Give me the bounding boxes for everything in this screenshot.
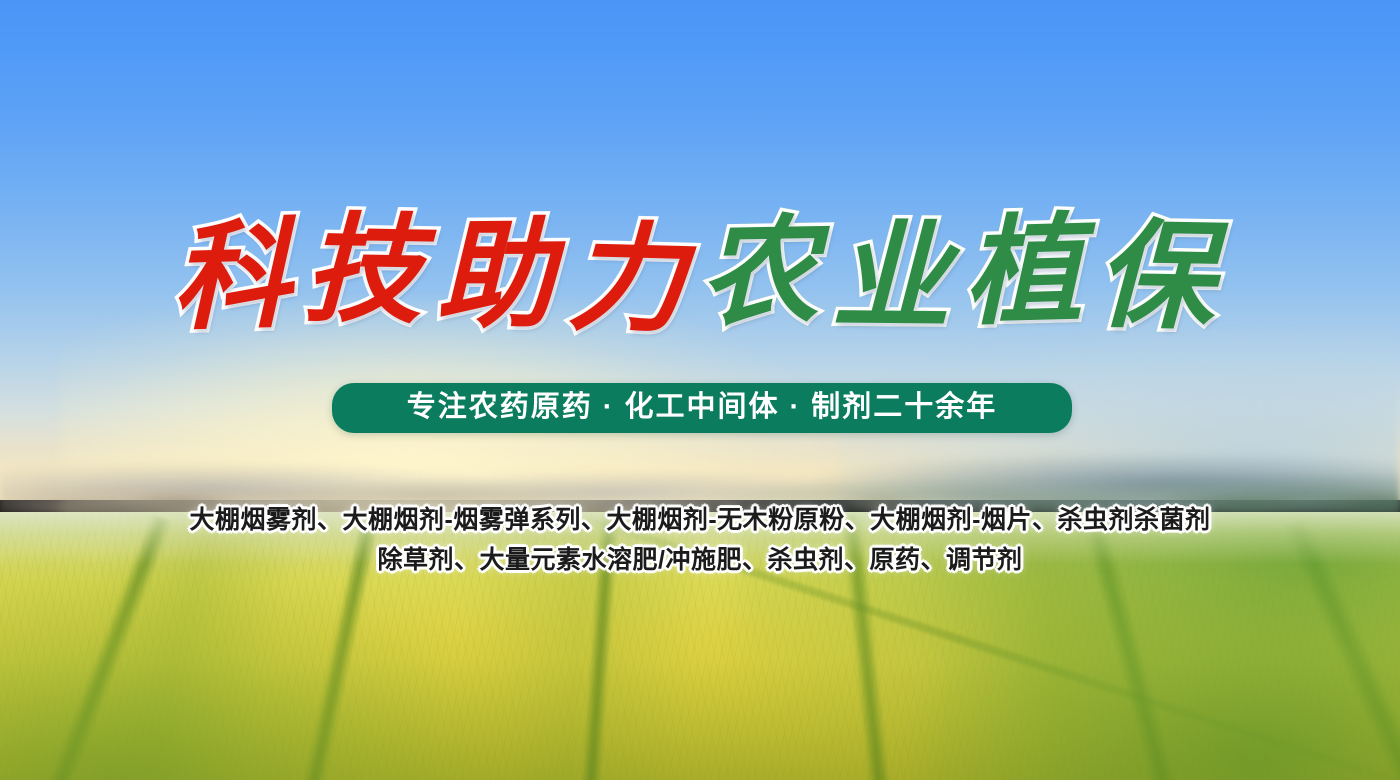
headline-char: 植 [962,199,1098,342]
product-list: 大棚烟雾剂、大棚烟剂-烟雾弹系列、大棚烟剂-无木粉原粉、大棚烟剂-烟片、杀虫剂杀… [0,500,1400,580]
product-line-1: 大棚烟雾剂、大棚烟剂-烟雾弹系列、大棚烟剂-无木粉原粉、大棚烟剂-烟片、杀虫剂杀… [0,500,1400,540]
headline-char: 业 [831,206,964,347]
product-line-2: 除草剂、大量元素水溶肥/冲施肥、杀虫剂、原药、调节剂 [0,540,1400,580]
headline: 科技助力农业植保 [0,204,1400,344]
headline-char: 助 [435,204,568,345]
headline-char: 科 [170,204,306,347]
headline-char: 技 [303,199,437,341]
headline-char: 力 [566,207,702,350]
promo-banner: 科技助力农业植保 专注农药原药 · 化工中间体 · 制剂二十余年 大棚烟雾剂、大… [0,0,1400,780]
subtitle-pill: 专注农药原药 · 化工中间体 · 制剂二十余年 [332,383,1072,433]
field-vignette [0,660,1400,780]
subtitle-text: 专注农药原药 · 化工中间体 · 制剂二十余年 [407,393,998,424]
headline-char: 农 [699,201,833,343]
headline-char: 保 [1095,205,1229,347]
